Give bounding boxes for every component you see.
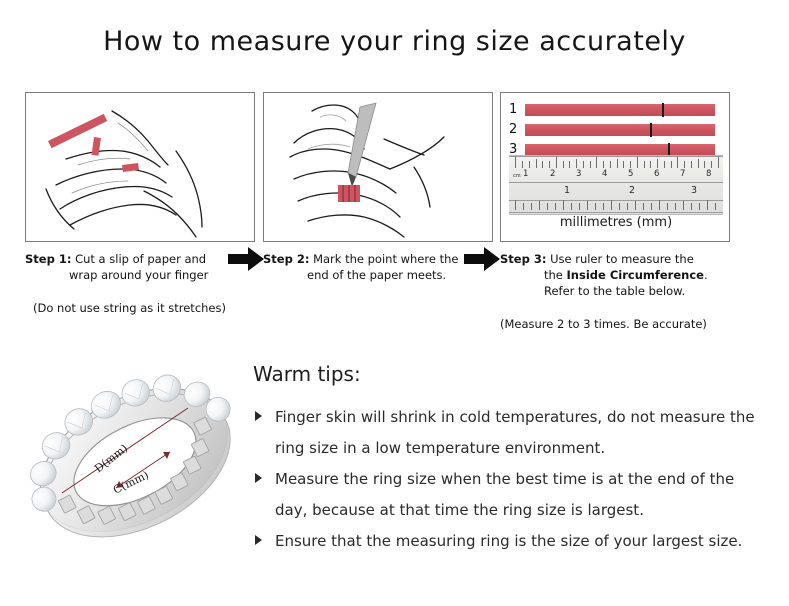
paper-strip	[525, 144, 715, 156]
warm-tip-item: Measure the ring size when the best time…	[253, 464, 768, 526]
warm-tip-text: Ensure that the measuring ring is the si…	[275, 532, 742, 550]
step-2-text-line1: Mark the point where the	[313, 252, 458, 266]
ruler-ticks-bottom	[509, 156, 723, 214]
warm-tip-item: Finger skin will shrink in cold temperat…	[253, 402, 768, 464]
warm-tips-heading: Warm tips:	[253, 362, 768, 386]
measured-strips: 1 2 3	[509, 101, 723, 161]
triangle-bullet-icon	[255, 473, 262, 483]
warm-tips-section: Warm tips: Finger skin will shrink in co…	[253, 362, 768, 557]
paper-strip	[525, 124, 715, 136]
ruler-unit-caption: millimetres (mm)	[501, 215, 730, 230]
strip-row: 2	[509, 121, 723, 138]
step-1-label: Step 1:	[25, 252, 71, 266]
ring-diagram: D(mm) C(mm)	[20, 348, 248, 573]
warm-tip-text: Measure the ring size when the best time…	[275, 470, 734, 519]
step-3-text-line2: the Inside Circumference.	[500, 267, 732, 283]
triangle-bullet-icon	[255, 411, 262, 421]
step-3-text-line3: Refer to the table below.	[500, 283, 732, 299]
step-1-caption: Step 1: Cut a slip of paper and wrap aro…	[25, 251, 257, 283]
paper-strip	[525, 104, 715, 116]
step-3-line2-suffix: .	[704, 268, 708, 282]
step-3-caption: Step 3: Use ruler to measure the the Ins…	[500, 251, 732, 299]
strip-row: 1	[509, 101, 723, 118]
hand-with-paper-strip-icon	[26, 93, 255, 242]
step-3-note: (Measure 2 to 3 times. Be accurate)	[500, 317, 732, 332]
step-2-label: Step 2:	[263, 252, 309, 266]
ring-photo-icon	[20, 348, 248, 573]
step-2-text-line2: end of the paper meets.	[263, 267, 495, 283]
page-title: How to measure your ring size accurately	[0, 26, 789, 57]
step-3-column: 1 2 3	[500, 92, 732, 332]
steps-row: Step 1: Cut a slip of paper and wrap aro…	[0, 92, 789, 347]
ruler-graphic: cm 1 2 3 4 5 6 7 8 1 2 3	[509, 155, 723, 215]
step-1-text-line1: Cut a slip of paper and	[75, 252, 206, 266]
warm-tip-item: Ensure that the measuring ring is the si…	[253, 526, 768, 557]
warm-tip-text: Finger skin will shrink in cold temperat…	[275, 408, 755, 457]
step-2-caption: Step 2: Mark the point where the end of …	[263, 251, 495, 283]
step-3-panel: 1 2 3	[500, 92, 730, 242]
step-3-label: Step 3:	[500, 252, 546, 266]
step-2-column: Step 2: Mark the point where the end of …	[263, 92, 495, 283]
step-3-line2-prefix: the	[544, 268, 567, 282]
step-3-text-line1: Use ruler to measure the	[550, 252, 694, 266]
strip-number: 1	[509, 103, 525, 116]
strip-mark	[662, 103, 664, 117]
strip-mark	[650, 123, 652, 137]
strip-number: 2	[509, 123, 525, 136]
step-1-panel	[25, 92, 255, 242]
triangle-bullet-icon	[255, 535, 262, 545]
step-1-note: (Do not use string as it stretches)	[25, 301, 257, 316]
arrow-right-icon-2	[464, 244, 502, 274]
hand-marking-paper-with-pen-icon	[264, 93, 493, 242]
step-3-line2-bold: Inside Circumference	[567, 268, 704, 282]
step-1-column: Step 1: Cut a slip of paper and wrap aro…	[25, 92, 257, 316]
arrow-right-icon-1	[228, 244, 266, 274]
step-1-text-line2: wrap around your finger	[25, 267, 257, 283]
step-2-panel	[263, 92, 493, 242]
